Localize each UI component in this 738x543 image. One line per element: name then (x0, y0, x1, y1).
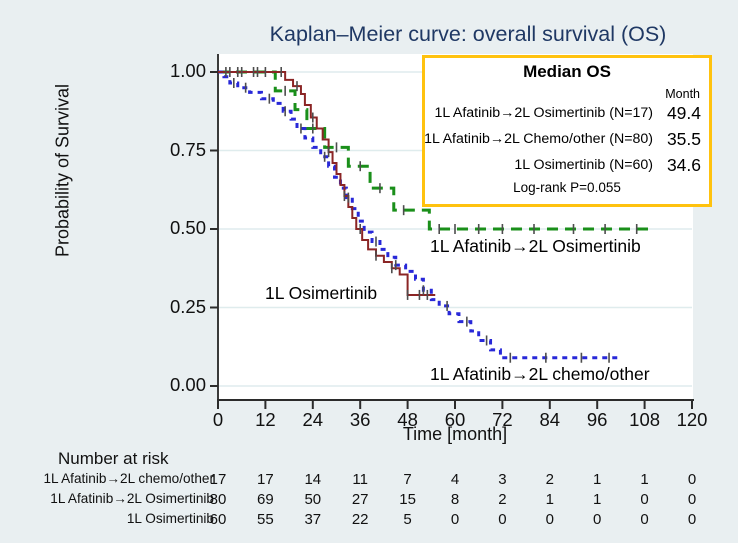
risk-cell: 50 (298, 491, 328, 508)
legend-pvalue: Log-rank P=0.055 (425, 180, 709, 195)
risk-cell: 17 (250, 471, 280, 488)
risk-cell: 0 (630, 511, 660, 528)
risk-row-label: 1L Afatinib→2L chemo/other (14, 471, 214, 486)
x-tick-label: 0 (195, 409, 241, 431)
curve-label: 1L Afatinib→2L chemo/other (430, 364, 650, 385)
risk-cell: 15 (393, 491, 423, 508)
x-tick-label: 84 (527, 409, 573, 431)
risk-cell: 3 (487, 471, 517, 488)
risk-cell: 80 (203, 491, 233, 508)
median-os-legend-box: Median OS Month 1L Afatinib→2L Osimertin… (422, 55, 712, 207)
x-tick-label: 96 (574, 409, 620, 431)
risk-cell: 0 (677, 491, 707, 508)
risk-cell: 0 (677, 511, 707, 528)
risk-row-label: 1L Afatinib→2L Osimertinib (14, 491, 214, 506)
legend-title: Median OS (425, 62, 709, 82)
legend-row-label: 1L Afatinib→2L Chemo/other (N=80) (424, 131, 653, 147)
y-tick-label: 0.00 (142, 374, 206, 396)
y-axis-label: Probability of Survival (53, 41, 74, 301)
legend-row: 1L Osimertinib (N=60)34.6 (425, 157, 709, 181)
risk-cell: 1 (582, 491, 612, 508)
risk-cell: 2 (535, 471, 565, 488)
kaplan-meier-figure: Kaplan–Meier curve: overall survival (OS… (0, 0, 738, 543)
x-tick-label: 24 (290, 409, 336, 431)
risk-cell: 0 (487, 511, 517, 528)
risk-cell: 14 (298, 471, 328, 488)
x-tick-label: 36 (337, 409, 383, 431)
risk-cell: 0 (535, 511, 565, 528)
x-tick-label: 48 (385, 409, 431, 431)
risk-cell: 0 (630, 491, 660, 508)
legend-row-label: 1L Osimertinib (N=60) (514, 157, 653, 173)
y-tick-label: 0.25 (142, 296, 206, 318)
legend-row-value: 49.4 (667, 103, 701, 124)
x-tick-label: 12 (242, 409, 288, 431)
risk-cell: 27 (345, 491, 375, 508)
risk-cell: 37 (298, 511, 328, 528)
risk-row-label: 1L Osimertinib (14, 511, 214, 526)
risk-cell: 11 (345, 471, 375, 488)
risk-cell: 1 (535, 491, 565, 508)
risk-cell: 60 (203, 511, 233, 528)
risk-cell: 0 (582, 511, 612, 528)
legend-row-label: 1L Afatinib→2L Osimertinib (N=17) (434, 105, 653, 121)
x-tick-label: 60 (432, 409, 478, 431)
x-tick-label: 72 (479, 409, 525, 431)
risk-cell: 7 (393, 471, 423, 488)
risk-cell: 17 (203, 471, 233, 488)
risk-cell: 5 (393, 511, 423, 528)
risk-cell: 2 (487, 491, 517, 508)
risk-table-title: Number at risk (58, 449, 169, 469)
x-tick-label: 120 (669, 409, 715, 431)
legend-row-value: 35.5 (667, 129, 701, 150)
risk-cell: 69 (250, 491, 280, 508)
legend-row: 1L Afatinib→2L Chemo/other (N=80)35.5 (425, 131, 709, 155)
risk-cell: 1 (582, 471, 612, 488)
curve-label: 1L Osimertinib (265, 283, 377, 304)
y-tick-label: 0.75 (142, 139, 206, 161)
curve-label: 1L Afatinib→2L Osimertinib (430, 236, 641, 257)
risk-cell: 0 (677, 471, 707, 488)
risk-cell: 8 (440, 491, 470, 508)
risk-cell: 22 (345, 511, 375, 528)
x-tick-label: 108 (622, 409, 668, 431)
risk-cell: 1 (630, 471, 660, 488)
risk-cell: 55 (250, 511, 280, 528)
legend-month-header: Month (665, 87, 700, 101)
y-tick-label: 0.50 (142, 217, 206, 239)
risk-cell: 0 (440, 511, 470, 528)
legend-row: 1L Afatinib→2L Osimertinib (N=17)49.4 (425, 105, 709, 129)
legend-row-value: 34.6 (667, 155, 701, 176)
y-tick-label: 1.00 (142, 60, 206, 82)
risk-cell: 4 (440, 471, 470, 488)
